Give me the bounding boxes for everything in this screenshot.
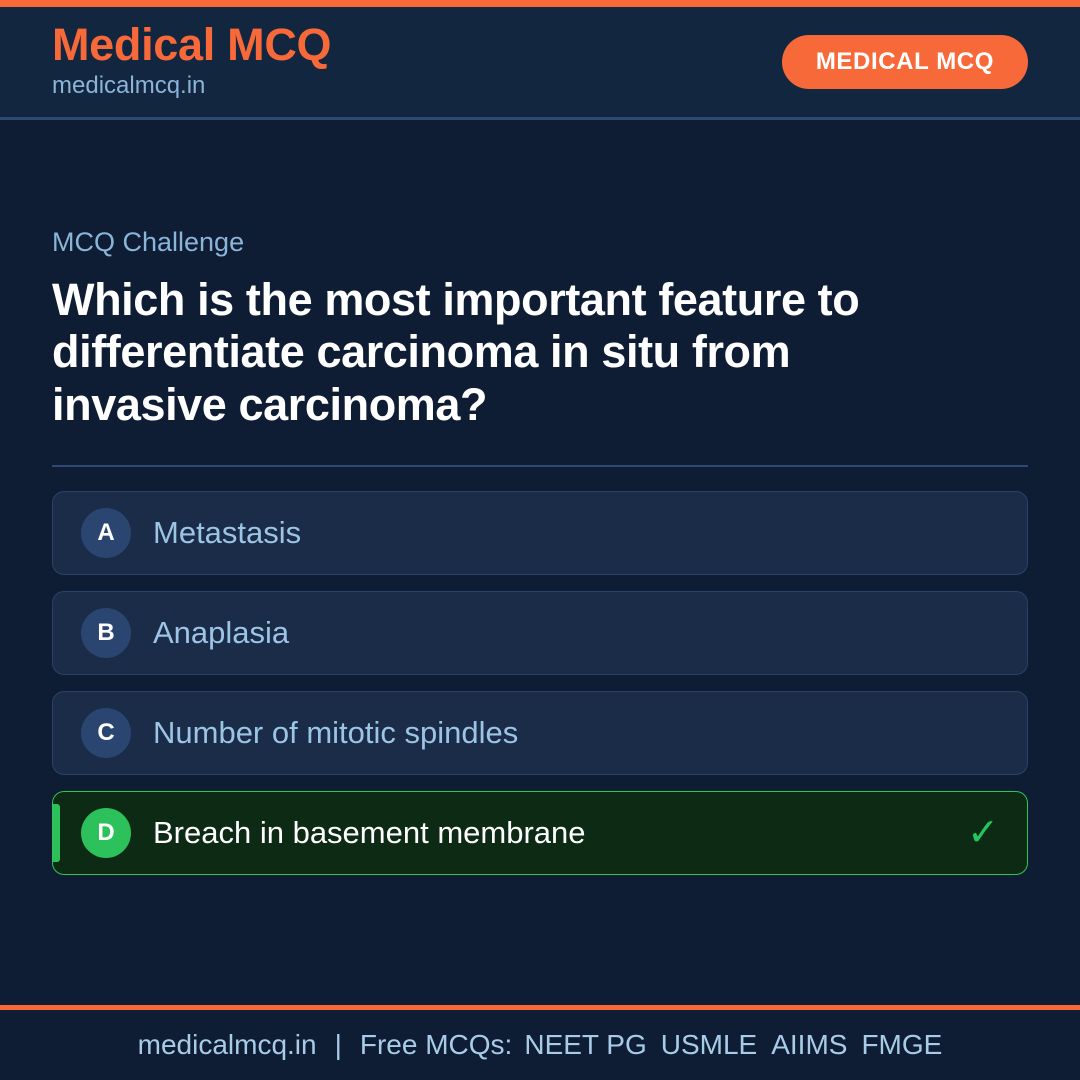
option-label: Number of mitotic spindles — [153, 714, 963, 751]
mcq-card: Medical MCQ medicalmcq.in MEDICAL MCQ MC… — [0, 0, 1080, 1080]
option-label: Breach in basement membrane — [153, 814, 963, 851]
page-footer: medicalmcq.in | Free MCQs: NEET PG USMLE… — [0, 1005, 1080, 1080]
footer-label: Free MCQs: — [360, 1029, 512, 1061]
footer-exam-fmge[interactable]: FMGE — [861, 1029, 942, 1061]
page-header: Medical MCQ medicalmcq.in MEDICAL MCQ — [0, 7, 1080, 120]
footer-content: medicalmcq.in | Free MCQs: NEET PG USMLE… — [138, 1029, 943, 1061]
check-icon: ✓ — [963, 814, 1003, 852]
option-a[interactable]: A Metastasis — [52, 491, 1028, 575]
question-text: Which is the most important feature to d… — [52, 274, 972, 432]
footer-exam-neet-pg[interactable]: NEET PG — [524, 1029, 646, 1061]
main-content: MCQ Challenge Which is the most importan… — [0, 120, 1080, 1005]
option-label: Anaplasia — [153, 614, 963, 651]
brand-title: Medical MCQ — [52, 22, 331, 68]
option-c[interactable]: C Number of mitotic spindles — [52, 691, 1028, 775]
footer-exam-usmle[interactable]: USMLE — [661, 1029, 757, 1061]
options-list: A Metastasis B Anaplasia C Number of mit… — [52, 491, 1028, 875]
header-badge[interactable]: MEDICAL MCQ — [782, 35, 1028, 89]
option-b[interactable]: B Anaplasia — [52, 591, 1028, 675]
footer-exam-aiims[interactable]: AIIMS — [771, 1029, 847, 1061]
footer-site-link[interactable]: medicalmcq.in — [138, 1029, 317, 1061]
top-accent-bar — [0, 0, 1080, 7]
option-letter-badge: A — [81, 508, 131, 558]
option-d[interactable]: D Breach in basement membrane ✓ — [52, 791, 1028, 875]
option-letter-badge: B — [81, 608, 131, 658]
brand-subtitle: medicalmcq.in — [52, 70, 331, 102]
footer-separator: | — [335, 1029, 342, 1061]
eyebrow-label: MCQ Challenge — [52, 228, 1028, 258]
correct-accent-bar — [53, 804, 60, 862]
option-letter-badge: C — [81, 708, 131, 758]
brand-block: Medical MCQ medicalmcq.in — [52, 22, 331, 102]
option-label: Metastasis — [153, 514, 963, 551]
section-divider — [52, 465, 1028, 467]
option-letter-badge: D — [81, 808, 131, 858]
